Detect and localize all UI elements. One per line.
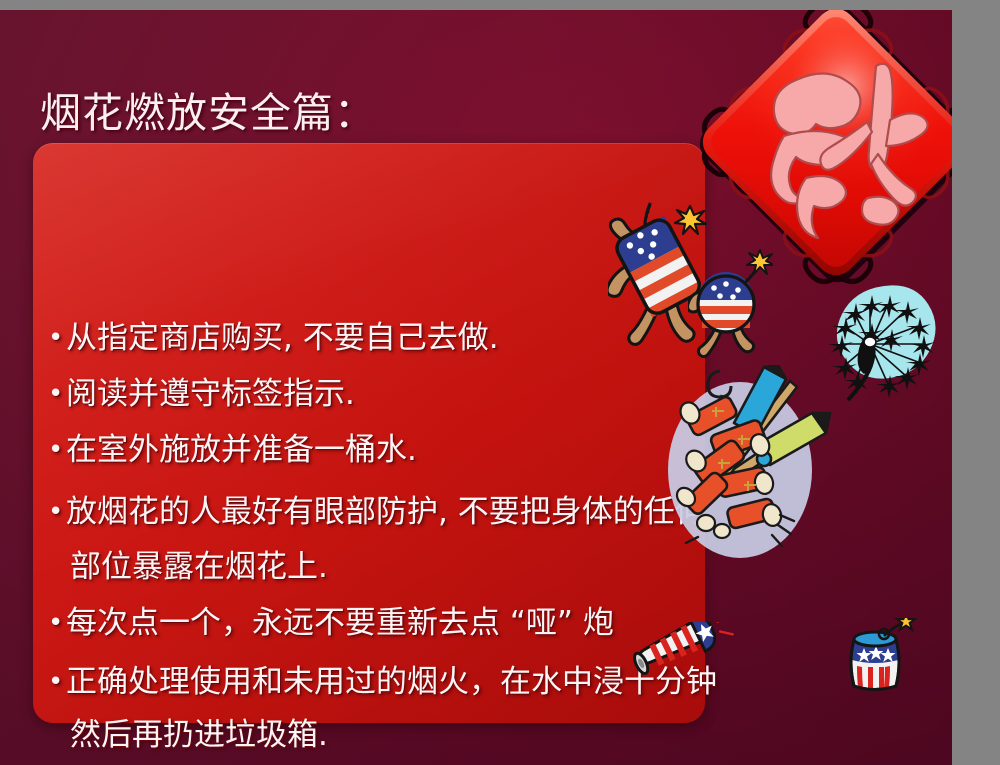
bullet-text: 在室外施放并准备一桶水.: [66, 432, 417, 468]
bullet-marker-icon: •: [48, 377, 66, 411]
bullet-item: •放烟花的人最好有眼部防护, 不要把身体的任何: [48, 495, 706, 529]
bullet-marker-icon: •: [48, 495, 66, 529]
bullet-marker-icon: •: [48, 665, 66, 699]
bullet-text: 阅读并遵守标签指示.: [66, 376, 355, 412]
bullet-text: 从指定商店购买, 不要自己去做.: [66, 320, 499, 356]
slide-title: 烟花燃放安全篇：: [40, 88, 376, 138]
bullet-text: 放烟花的人最好有眼部防护, 不要把身体的任何: [66, 494, 706, 530]
bullet-text: 部位暴露在烟花上.: [70, 549, 328, 585]
bullet-marker-icon: •: [48, 433, 66, 467]
slide-workspace: 烟花燃放安全篇： •从指定商店购买, 不要自己去做.•阅读并遵守标签指示.•在室…: [0, 0, 1000, 765]
bullet-marker-icon: •: [48, 606, 66, 640]
bullet-continuation-line: 部位暴露在烟花上.: [70, 550, 328, 584]
content-panel: •从指定商店购买, 不要自己去做.•阅读并遵守标签指示.•在室外施放并准备一桶水…: [33, 143, 705, 723]
barrel-firework-icon: [840, 618, 918, 702]
bullet-text: 正确处理使用和未用过的烟火，在水中浸十分钟: [66, 664, 717, 700]
bullet-text: 每次点一个，永远不要重新去点 “哑” 炮: [66, 605, 614, 641]
bullet-item: •每次点一个，永远不要重新去点 “哑” 炮: [48, 606, 614, 640]
bullet-text: 然后再扔进垃圾箱.: [70, 717, 328, 753]
bullet-item: •在室外施放并准备一桶水.: [48, 433, 417, 467]
bullet-item: •阅读并遵守标签指示.: [48, 377, 355, 411]
diamond-ornament-icon: [700, 10, 952, 292]
bullet-marker-icon: •: [48, 321, 66, 355]
bullet-continuation-line: 然后再扔进垃圾箱.: [70, 718, 328, 752]
sparkler-fan-icon: [826, 278, 946, 403]
bullet-item: •从指定商店购买, 不要自己去做.: [48, 321, 499, 355]
bullet-item: •正确处理使用和未用过的烟火，在水中浸十分钟: [48, 665, 717, 699]
slide-canvas: 烟花燃放安全篇： •从指定商店购买, 不要自己去做.•阅读并遵守标签指示.•在室…: [0, 10, 952, 765]
